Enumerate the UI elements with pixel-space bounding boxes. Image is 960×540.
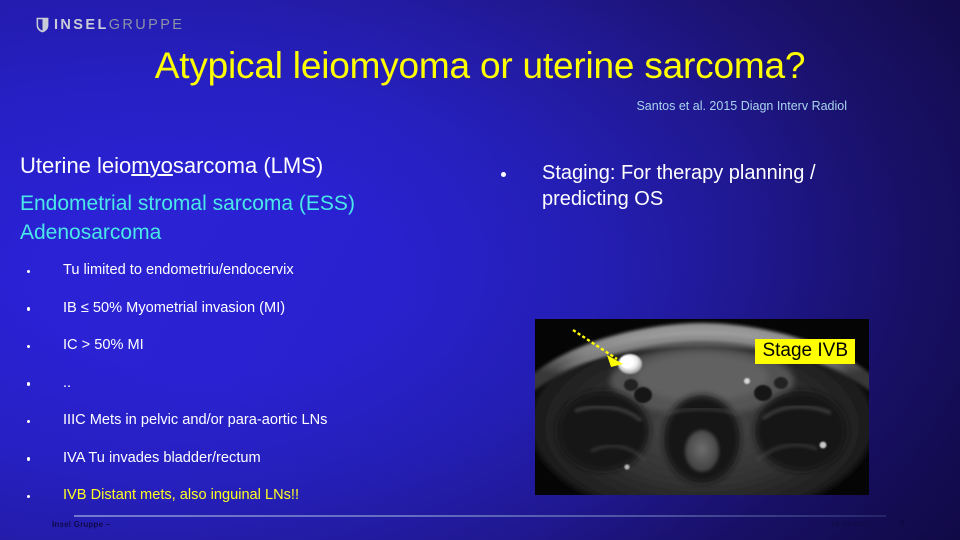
bullet-dot-icon bbox=[27, 457, 30, 460]
slide-title: Atypical leiomyoma or uterine sarcoma? bbox=[0, 47, 960, 86]
list-item: .. bbox=[20, 375, 472, 393]
list-item-label: IVA Tu invades bladder/rectum bbox=[63, 450, 261, 466]
footer-date: 16.03.2021 bbox=[831, 519, 871, 528]
mri-figure: Stage IVB bbox=[535, 319, 869, 495]
brand-name-gruppe: GRUPPE bbox=[109, 17, 185, 33]
presentation-slide: INSELGRUPPE Atypical leiomyoma or uterin… bbox=[0, 0, 960, 540]
stage-label-badge: Stage IVB bbox=[755, 339, 855, 364]
footer-divider bbox=[74, 515, 886, 517]
list-item: IIIC Mets in pelvic and/or para-aortic L… bbox=[20, 412, 472, 430]
heading-lms: Uterine leiomyosarcoma (LMS) bbox=[20, 152, 472, 180]
brand-name-insel: INSEL bbox=[54, 17, 109, 33]
list-item-label: .. bbox=[63, 375, 71, 391]
bullet-dot-icon bbox=[27, 307, 30, 310]
bullet-dot-icon bbox=[27, 420, 30, 423]
list-item-label: IB ≤ 50% Myometrial invasion (MI) bbox=[63, 300, 285, 316]
list-item: Tu limited to endometriu/endocervix bbox=[20, 262, 472, 280]
bullet-dot-icon bbox=[501, 172, 506, 177]
footer-page-number: 9 bbox=[900, 519, 904, 528]
bullet-dot-icon bbox=[27, 345, 30, 348]
list-item-label: IIIC Mets in pelvic and/or para-aortic L… bbox=[63, 412, 327, 428]
list-item-label: IC > 50% MI bbox=[63, 337, 144, 353]
list-item-label: IVB Distant mets, also inguinal LNs!! bbox=[63, 487, 299, 503]
bullet-dot-icon bbox=[27, 382, 30, 385]
heading-lms-underlined: myo bbox=[131, 153, 173, 178]
bullet-dot-icon bbox=[27, 495, 30, 498]
right-content-column: Staging: For therapy planning / predicti… bbox=[496, 161, 896, 212]
list-item-highlighted: IVB Distant mets, also inguinal LNs!! bbox=[20, 487, 472, 505]
brand-logo: INSELGRUPPE bbox=[36, 17, 184, 33]
list-item: IB ≤ 50% Myometrial invasion (MI) bbox=[20, 300, 472, 318]
heading-ess: Endometrial stromal sarcoma (ESS) bbox=[20, 191, 472, 217]
list-item: IVA Tu invades bladder/rectum bbox=[20, 450, 472, 468]
left-content-column: Uterine leiomyosarcoma (LMS) Endometrial… bbox=[20, 152, 472, 525]
bullet-dot-icon bbox=[27, 270, 30, 273]
source-citation: Santos et al. 2015 Diagn Interv Radiol bbox=[636, 99, 847, 114]
staging-purpose-label: Staging: For therapy planning / predicti… bbox=[542, 162, 816, 210]
footer-organization: Insel Gruppe – bbox=[52, 520, 110, 529]
heading-lms-post: sarcoma (LMS) bbox=[173, 153, 323, 178]
brand-logo-text: INSELGRUPPE bbox=[54, 18, 184, 33]
list-item: IC > 50% MI bbox=[20, 337, 472, 355]
shield-icon bbox=[36, 17, 49, 33]
staging-bullet-list: Tu limited to endometriu/endocervix IB ≤… bbox=[20, 262, 472, 505]
list-item-label: Tu limited to endometriu/endocervix bbox=[63, 262, 294, 278]
heading-adenosarcoma: Adenosarcoma bbox=[20, 220, 472, 246]
heading-lms-pre: Uterine leio bbox=[20, 153, 131, 178]
staging-purpose-bullet: Staging: For therapy planning / predicti… bbox=[496, 161, 896, 212]
